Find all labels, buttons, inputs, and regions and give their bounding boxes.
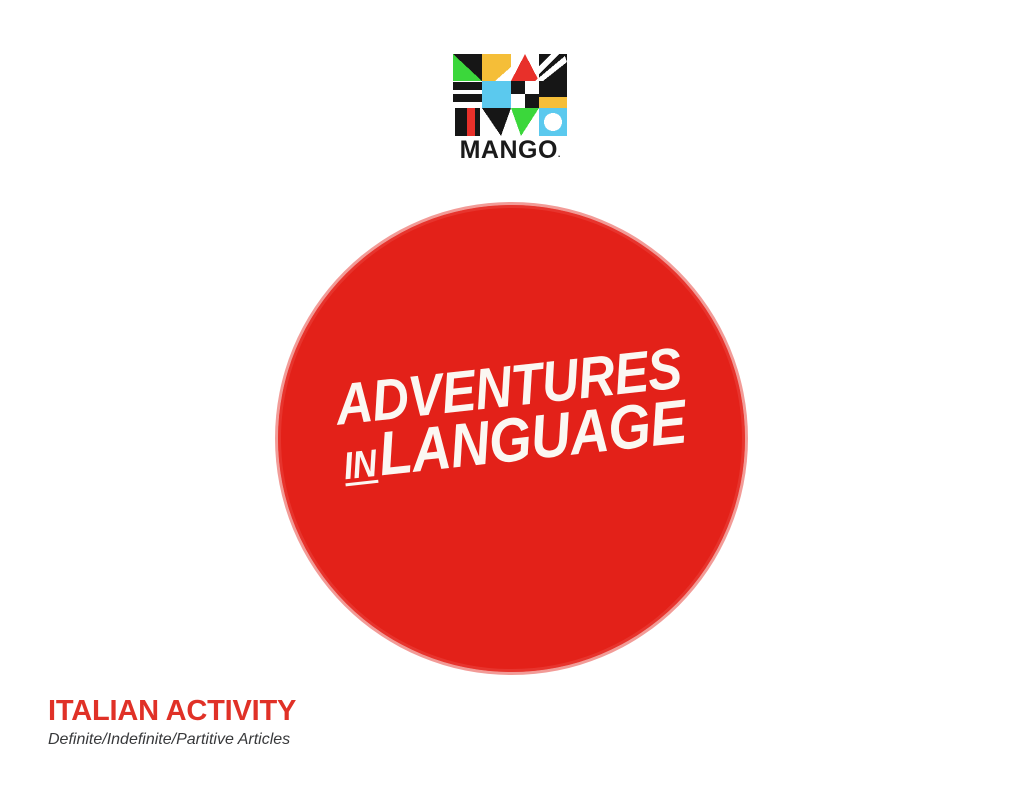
hero-title-in: IN xyxy=(341,442,378,488)
adventures-in-language-badge: ADVENTURES INLANGUAGE xyxy=(278,205,745,672)
activity-subtitle: Definite/Indefinite/Partitive Articles xyxy=(48,730,568,749)
footer-block: ITALIAN ACTIVITY Definite/Indefinite/Par… xyxy=(48,696,568,750)
activity-title: ITALIAN ACTIVITY xyxy=(48,696,568,726)
mango-brand-logo: MANGO. xyxy=(453,54,567,167)
registered-trademark-icon: . xyxy=(558,149,561,159)
hero-title: ADVENTURES INLANGUAGE xyxy=(278,336,745,493)
mango-wordmark-text: MANGO xyxy=(460,136,558,164)
slide-canvas: MANGO. ADVENTURES INLANGUAGE ITALIAN ACT… xyxy=(0,0,1024,791)
mango-wordmark: MANGO. xyxy=(453,138,567,163)
mango-m-logo-icon xyxy=(453,54,567,136)
